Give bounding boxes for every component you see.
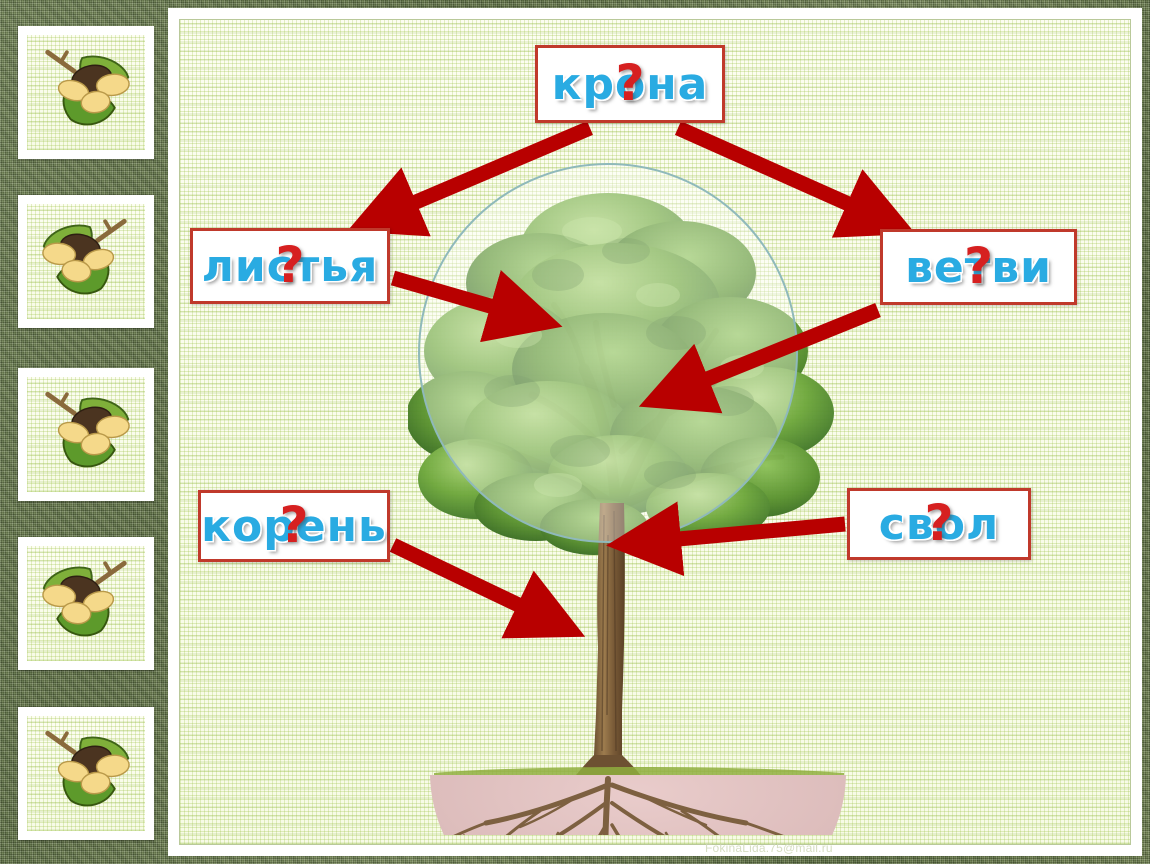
watermark-email: FokinaLida.75@mail.ru — [705, 841, 833, 855]
oak-branch-acorn-icon — [27, 35, 145, 150]
label-krona-text: крона — [552, 59, 709, 110]
slide-canvas: крона ? листья ? ветви ? корень ? свол ? — [179, 19, 1131, 845]
crown-outline-ellipse — [418, 163, 798, 543]
label-listya[interactable]: листья ? — [190, 228, 390, 304]
thumbnail-item[interactable] — [18, 368, 154, 501]
thumbnail-rail — [8, 0, 164, 864]
label-svol[interactable]: свол ? — [847, 488, 1031, 560]
oak-branch-acorn-icon — [27, 377, 145, 492]
oak-branch-acorn-icon — [27, 716, 145, 831]
label-krona[interactable]: крона ? — [535, 45, 725, 123]
thumbnail-item[interactable] — [18, 195, 154, 328]
thumbnail-item[interactable] — [18, 537, 154, 670]
oak-branch-acorn-icon — [27, 204, 145, 319]
label-svol-text: свол — [879, 499, 999, 550]
label-koren[interactable]: корень ? — [198, 490, 390, 562]
tree-illustration — [408, 155, 868, 835]
oak-branch-acorn-icon — [27, 546, 145, 661]
label-vetvi-text: ветви — [905, 242, 1052, 293]
thumbnail-item[interactable] — [18, 707, 154, 840]
label-vetvi[interactable]: ветви ? — [880, 229, 1077, 305]
thumbnail-item[interactable] — [18, 26, 154, 159]
label-koren-text: корень — [201, 501, 387, 552]
slide-main-panel: крона ? листья ? ветви ? корень ? свол ? — [168, 8, 1142, 856]
label-listya-text: листья — [202, 241, 379, 292]
